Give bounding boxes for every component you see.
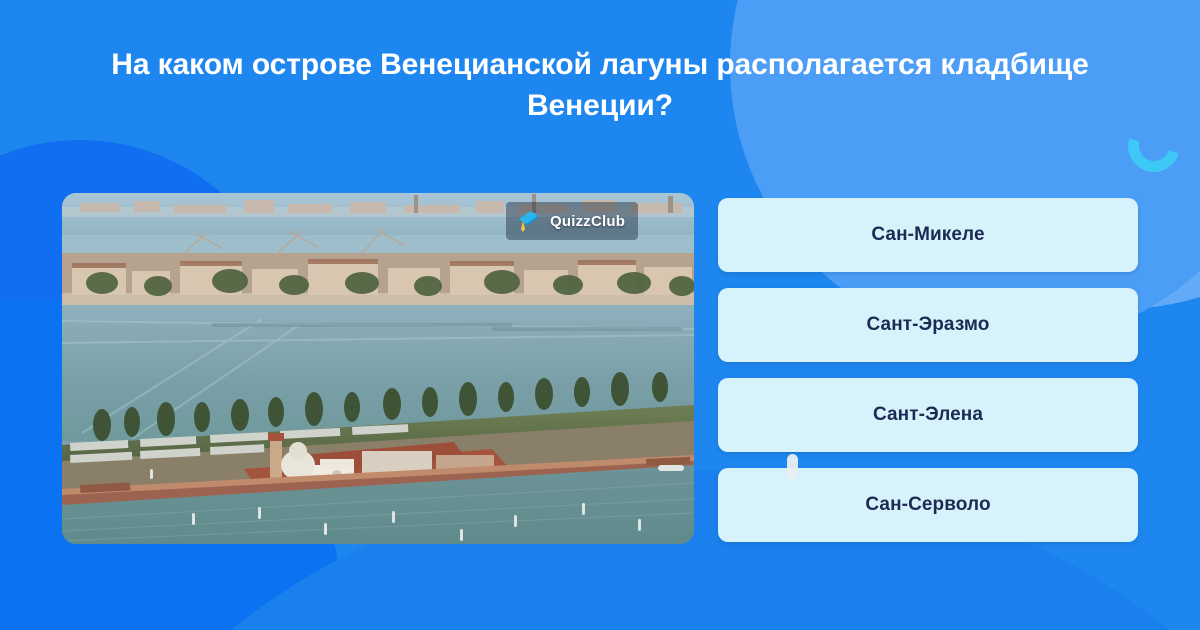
- quiz-card: На каком острове Венецианской лагуны рас…: [0, 0, 1200, 630]
- question-text: На каком острове Венецианской лагуны рас…: [90, 44, 1110, 126]
- content-area: QuizzClub Сан-Микеле Сант-Эразмо Сант-Эл…: [0, 190, 1200, 560]
- answer-option-4[interactable]: Сан-Серволо: [718, 468, 1138, 542]
- quizzclub-watermark: QuizzClub: [506, 202, 638, 240]
- answer-option-label: Сан-Микеле: [871, 224, 984, 246]
- answer-options-list: Сан-Микеле Сант-Эразмо Сант-Элена Сан-Се…: [718, 198, 1138, 542]
- question-image: QuizzClub: [62, 193, 694, 544]
- watermark-brand-label: QuizzClub: [550, 213, 625, 230]
- answer-option-label: Сант-Эразмо: [866, 314, 989, 336]
- answer-option-label: Сант-Элена: [873, 404, 983, 426]
- venice-lagoon-aerial-photo: [62, 193, 694, 544]
- scrollbar-thumb[interactable]: [787, 454, 798, 480]
- answer-option-2[interactable]: Сант-Эразмо: [718, 288, 1138, 362]
- answer-option-3[interactable]: Сант-Элена: [718, 378, 1138, 452]
- answer-option-label: Сан-Серволо: [865, 494, 990, 516]
- answer-option-1[interactable]: Сан-Микеле: [718, 198, 1138, 272]
- graduation-cap-icon: [515, 208, 541, 234]
- question-block: На каком острове Венецианской лагуны рас…: [0, 44, 1200, 126]
